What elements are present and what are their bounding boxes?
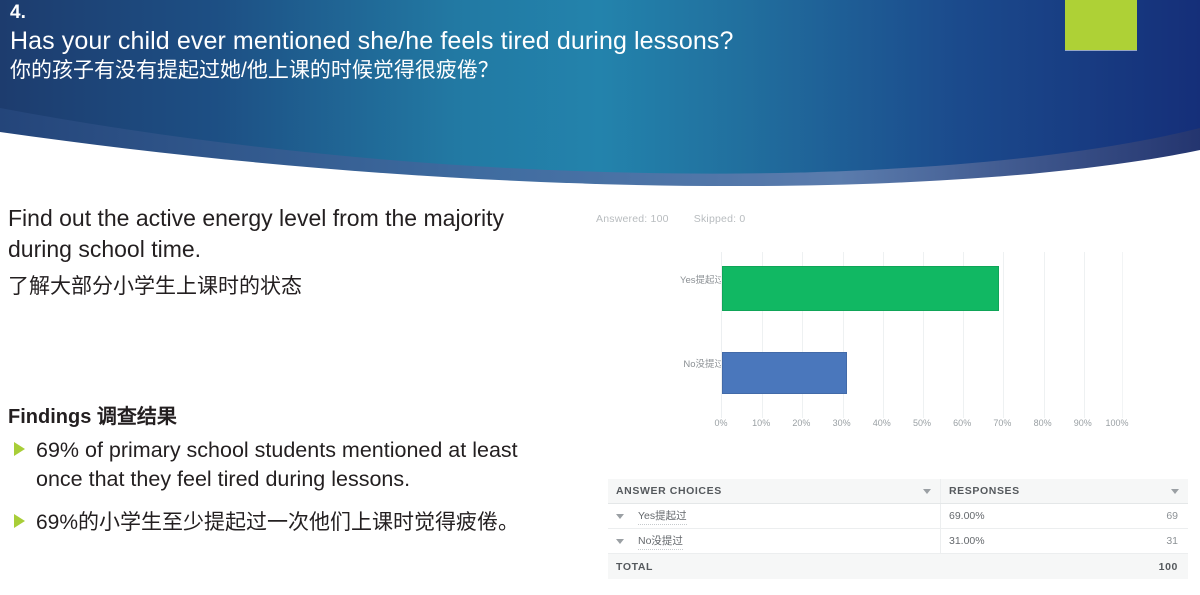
cell-responses: 31.00% 31	[940, 529, 1188, 553]
chart-x-axis: 0% 10% 20% 30% 40% 50% 60% 70% 80% 90% 1…	[721, 418, 1123, 438]
survey-bar-chart: Yes提起过 No没提过 0% 10% 20% 30% 40% 50% 60% …	[596, 240, 1136, 440]
bar-yes	[722, 266, 999, 311]
bullet-text-en: 69% of primary school students mentioned…	[36, 436, 568, 494]
findings-heading: Findings 调查结果	[8, 400, 177, 429]
accent-square	[1065, 0, 1137, 50]
x-tick: 0%	[714, 418, 727, 428]
x-tick: 60%	[953, 418, 971, 428]
triangle-bullet-icon	[14, 514, 25, 528]
table-header-row: ANSWER CHOICES RESPONSES	[608, 479, 1188, 504]
x-tick: 90%	[1074, 418, 1092, 428]
survey-response-meta: Answered: 100 Skipped: 0	[596, 213, 767, 225]
table-row: Yes提起过 69.00% 69	[608, 504, 1188, 529]
question-number: 4.	[10, 0, 1050, 26]
total-count-cell: 100	[940, 554, 1188, 579]
x-tick: 20%	[792, 418, 810, 428]
x-tick: 40%	[873, 418, 891, 428]
answer-choices-table: ANSWER CHOICES RESPONSES Yes提起过 69.00% 6…	[608, 479, 1188, 579]
gridline	[1084, 252, 1085, 418]
header-text-block: 4. Has your child ever mentioned she/he …	[10, 0, 1050, 85]
table-row: No没提过 31.00% 31	[608, 529, 1188, 554]
total-label: TOTAL	[616, 561, 653, 573]
question-title-zh: 你的孩子有没有提起过她/他上课的时候觉得很疲倦？	[10, 57, 1050, 85]
response-percent: 31.00%	[949, 535, 985, 547]
total-label-cell: TOTAL	[608, 554, 940, 579]
table-total-row: TOTAL 100	[608, 554, 1188, 579]
x-tick: 50%	[913, 418, 931, 428]
chevron-down-icon[interactable]	[1171, 489, 1179, 494]
findings-label-en: Findings	[8, 406, 91, 428]
response-count: 31	[1166, 535, 1178, 547]
purpose-block: Find out the active energy level from th…	[8, 203, 568, 302]
cell-answer-choice: Yes提起过	[608, 504, 940, 528]
purpose-text-zh: 了解大部分小学生上课时的状态	[8, 272, 568, 302]
triangle-bullet-icon	[14, 442, 25, 456]
purpose-text-en: Find out the active energy level from th…	[8, 203, 518, 265]
findings-bullet-list: 69% of primary school students mentioned…	[8, 436, 568, 552]
answer-choice-label[interactable]: Yes提起过	[638, 508, 687, 525]
list-item: 69% of primary school students mentioned…	[8, 436, 568, 494]
gridline	[1044, 252, 1045, 418]
chevron-down-icon[interactable]	[616, 539, 624, 544]
answer-choice-label[interactable]: No没提过	[638, 533, 683, 550]
gridline	[1003, 252, 1004, 418]
x-tick: 10%	[752, 418, 770, 428]
header-banner: 4. Has your child ever mentioned she/he …	[0, 0, 1200, 190]
question-title-en: Has your child ever mentioned she/he fee…	[10, 26, 1050, 57]
column-header-responses[interactable]: RESPONSES	[940, 479, 1188, 503]
x-tick: 100%	[1105, 418, 1128, 428]
x-tick: 70%	[993, 418, 1011, 428]
bar-no	[722, 352, 847, 394]
chart-plot-area	[721, 252, 1123, 418]
x-tick: 30%	[833, 418, 851, 428]
x-tick: 80%	[1034, 418, 1052, 428]
chevron-down-icon[interactable]	[616, 514, 624, 519]
chart-category-label-yes: Yes提起过	[604, 272, 724, 286]
column-header-answer-choices[interactable]: ANSWER CHOICES	[608, 479, 940, 503]
total-count: 100	[1159, 561, 1178, 573]
response-percent: 69.00%	[949, 510, 985, 522]
response-count: 69	[1166, 510, 1178, 522]
findings-label-zh: 调查结果	[97, 406, 177, 428]
list-item: 69%的小学生至少提起过一次他们上课时觉得疲倦。	[8, 508, 568, 538]
bullet-text-zh: 69%的小学生至少提起过一次他们上课时觉得疲倦。	[36, 508, 568, 538]
column-header-responses-label: RESPONSES	[949, 485, 1020, 497]
chart-category-label-no: No没提过	[604, 356, 724, 370]
column-header-answer-choices-label: ANSWER CHOICES	[616, 485, 722, 497]
chevron-down-icon[interactable]	[923, 489, 931, 494]
cell-answer-choice: No没提过	[608, 529, 940, 553]
skipped-count: Skipped: 0	[694, 213, 746, 225]
slide-canvas: 4. Has your child ever mentioned she/he …	[0, 0, 1200, 595]
answered-count: Answered: 100	[596, 213, 669, 225]
cell-responses: 69.00% 69	[940, 504, 1188, 528]
